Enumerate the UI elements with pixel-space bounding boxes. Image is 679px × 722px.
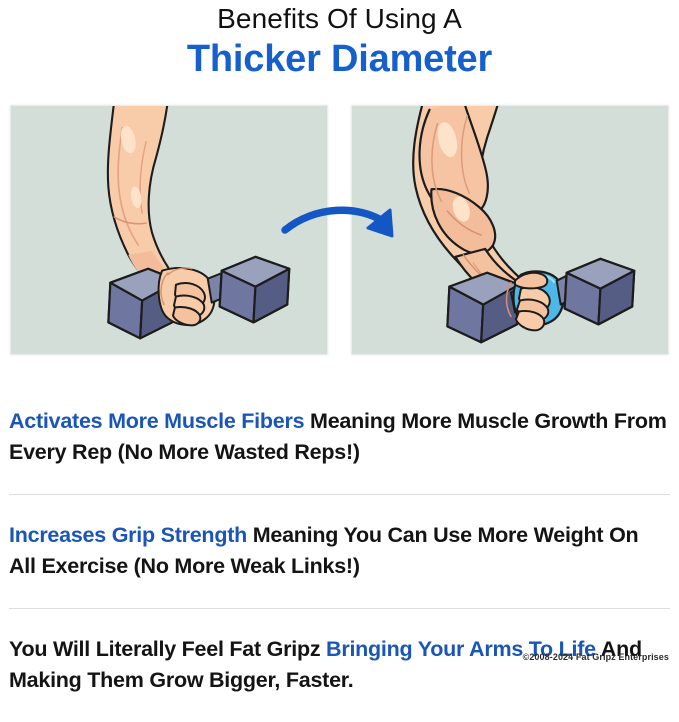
title-line-2: Thicker Diameter bbox=[0, 35, 679, 83]
page-title: Benefits Of Using A Thicker Diameter bbox=[0, 0, 679, 83]
benefits-list: Activates More Muscle Fibers Meaning Mor… bbox=[0, 381, 679, 722]
benefit-text: Activates More Muscle Fibers Meaning Mor… bbox=[9, 406, 670, 468]
panel-before-thin-arm bbox=[10, 105, 328, 355]
benefit-text: Increases Grip Strength Meaning You Can … bbox=[9, 520, 670, 582]
panel-after-muscular-arm bbox=[351, 105, 669, 355]
title-line-1: Benefits Of Using A bbox=[0, 2, 679, 36]
benefit-row: Activates More Muscle Fibers Meaning Mor… bbox=[9, 381, 670, 495]
copyright-text: ©2008-2024 Fat Gripz Enterprises bbox=[523, 652, 669, 662]
benefit-row: You Will Literally Feel Fat Gripz Bringi… bbox=[9, 609, 670, 722]
thin-arm-dumbbell-illustration bbox=[11, 106, 327, 354]
comparison-panels bbox=[0, 105, 679, 358]
benefit-highlight: Activates More Muscle Fibers bbox=[9, 409, 304, 433]
footer: ©2008-2024 Fat Gripz Enterprises bbox=[0, 647, 679, 665]
benefit-highlight: Increases Grip Strength bbox=[9, 523, 247, 547]
benefit-row: Increases Grip Strength Meaning You Can … bbox=[9, 495, 670, 609]
muscular-arm-gripz-illustration bbox=[352, 106, 668, 354]
